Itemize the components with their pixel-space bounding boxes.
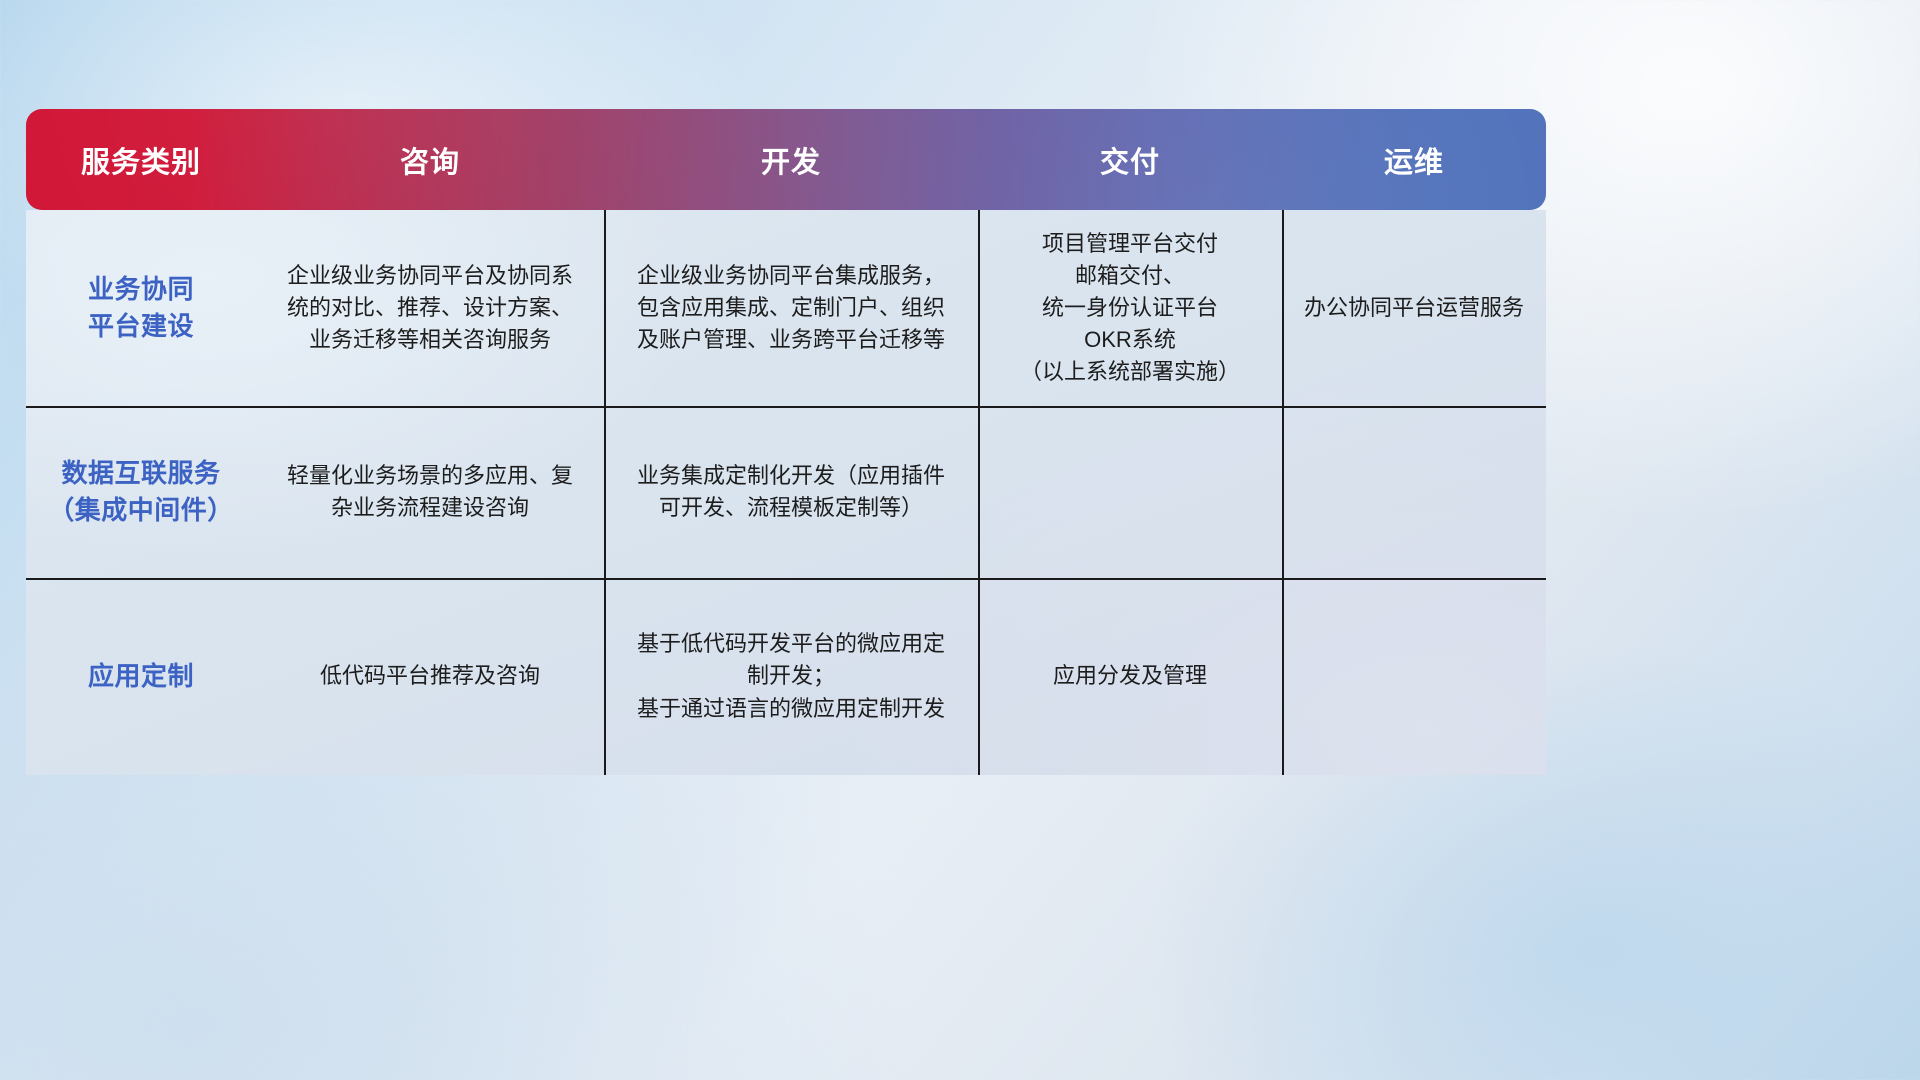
- cell-operations: [1282, 406, 1546, 578]
- cell-text: 项目管理平台交付 邮箱交付、 统一身份认证平台 OKR系统 （以上系统部署实施）: [1020, 228, 1240, 389]
- cell-operations: 办公协同平台运营服务: [1282, 210, 1546, 406]
- table-row: 业务协同 平台建设 企业级业务协同平台及协同系 统的对比、推荐、设计方案、 业务…: [26, 210, 1546, 406]
- cell-consulting: 企业级业务协同平台及协同系 统的对比、推荐、设计方案、 业务迁移等相关咨询服务: [256, 210, 604, 406]
- row-label-text: 业务协同 平台建设: [88, 271, 194, 345]
- row-label-cell: 应用定制: [26, 578, 256, 775]
- cell-delivery: 项目管理平台交付 邮箱交付、 统一身份认证平台 OKR系统 （以上系统部署实施）: [978, 210, 1282, 406]
- cell-development: 业务集成定制化开发（应用插件 可开发、流程模板定制等）: [604, 406, 978, 578]
- row-label-cell: 业务协同 平台建设: [26, 210, 256, 406]
- table-header-row: 服务类别 咨询 开发 交付 运维: [26, 109, 1546, 210]
- cell-text: 应用分发及管理: [1053, 660, 1207, 692]
- cell-text: 轻量化业务场景的多应用、复 杂业务流程建设咨询: [287, 460, 573, 524]
- row-label-text: 应用定制: [88, 658, 194, 695]
- row-label-text: 数据互联服务 （集成中间件）: [48, 455, 234, 529]
- service-matrix-table: 服务类别 咨询 开发 交付 运维 业务协同 平台建设 企业级业务协同平台及协同系…: [26, 109, 1546, 775]
- cell-delivery: 应用分发及管理: [978, 578, 1282, 775]
- cell-text: 企业级业务协同平台集成服务， 包含应用集成、定制门户、组织 及账户管理、业务跨平…: [637, 260, 945, 356]
- table-row: 应用定制 低代码平台推荐及咨询 基于低代码开发平台的微应用定 制开发； 基于通过…: [26, 578, 1546, 775]
- table-body: 业务协同 平台建设 企业级业务协同平台及协同系 统的对比、推荐、设计方案、 业务…: [26, 210, 1546, 775]
- column-header-consulting: 咨询: [256, 139, 604, 181]
- cell-text: 办公协同平台运营服务: [1304, 292, 1524, 324]
- cell-text: 基于低代码开发平台的微应用定 制开发； 基于通过语言的微应用定制开发: [637, 628, 945, 724]
- column-header-delivery: 交付: [978, 139, 1282, 181]
- cell-development: 企业级业务协同平台集成服务， 包含应用集成、定制门户、组织 及账户管理、业务跨平…: [604, 210, 978, 406]
- cell-development: 基于低代码开发平台的微应用定 制开发； 基于通过语言的微应用定制开发: [604, 578, 978, 775]
- column-header-service-category: 服务类别: [26, 139, 256, 181]
- cell-delivery: [978, 406, 1282, 578]
- cell-text: 低代码平台推荐及咨询: [320, 660, 540, 692]
- cell-text: 企业级业务协同平台及协同系 统的对比、推荐、设计方案、 业务迁移等相关咨询服务: [287, 260, 573, 356]
- table-row: 数据互联服务 （集成中间件） 轻量化业务场景的多应用、复 杂业务流程建设咨询 业…: [26, 406, 1546, 578]
- cell-operations: [1282, 578, 1546, 775]
- column-header-development: 开发: [604, 139, 978, 181]
- row-label-cell: 数据互联服务 （集成中间件）: [26, 406, 256, 578]
- column-header-operations: 运维: [1282, 139, 1546, 181]
- cell-consulting: 轻量化业务场景的多应用、复 杂业务流程建设咨询: [256, 406, 604, 578]
- cell-text: 业务集成定制化开发（应用插件 可开发、流程模板定制等）: [637, 460, 945, 524]
- cell-consulting: 低代码平台推荐及咨询: [256, 578, 604, 775]
